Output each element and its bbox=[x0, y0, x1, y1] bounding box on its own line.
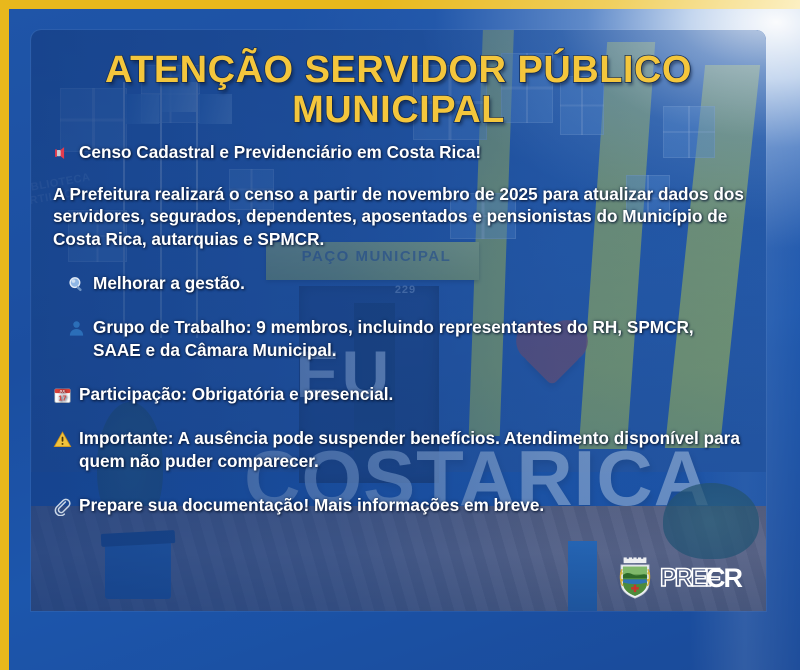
spacer bbox=[53, 250, 744, 272]
spacer bbox=[53, 163, 744, 183]
calendar-day-label: 17 bbox=[58, 393, 66, 402]
bullet-text: Censo Cadastral e Previdenciário em Cost… bbox=[79, 141, 744, 163]
warning-icon bbox=[53, 430, 72, 449]
bullet-participacao: JUL 17 Participação: Obrigatória e prese… bbox=[53, 383, 744, 405]
megaphone-icon bbox=[53, 144, 72, 163]
calendar-icon: JUL 17 bbox=[53, 386, 72, 405]
bullet-text: Grupo de Trabalho: 9 membros, incluindo … bbox=[93, 316, 744, 361]
spacer bbox=[53, 361, 744, 383]
coat-of-arms-icon bbox=[617, 557, 653, 599]
body-content: Censo Cadastral e Previdenciário em Cost… bbox=[53, 141, 744, 517]
bullet-text: Melhorar a gestão. bbox=[93, 272, 744, 294]
content-card: PAÇO MUNICIPAL 229 BIBLIOTECA ARTILHO EU… bbox=[31, 30, 766, 611]
person-icon bbox=[67, 319, 86, 338]
prefeitura-logo[interactable]: PREF CR bbox=[617, 557, 748, 599]
spacer bbox=[53, 405, 744, 427]
spacer bbox=[53, 472, 744, 494]
magnifying-glass-icon bbox=[67, 275, 86, 294]
bullet-text: Importante: A ausência pode suspender be… bbox=[79, 427, 744, 472]
page-title: ATENÇÃO SERVIDOR PÚBLICO MUNICIPAL bbox=[53, 50, 744, 131]
prefcr-wordmark: PREF CR bbox=[660, 563, 748, 593]
poster-root: PAÇO MUNICIPAL 229 BIBLIOTECA ARTILHO EU… bbox=[0, 0, 800, 670]
paragraph-text: A Prefeitura realizará o censo a partir … bbox=[53, 183, 744, 250]
bullet-text: Participação: Obrigatória e presencial. bbox=[79, 383, 744, 405]
bullet-importante: Importante: A ausência pode suspender be… bbox=[53, 427, 744, 472]
wordmark-cr-text: CR bbox=[706, 563, 742, 593]
bullet-prepare-documentacao: Prepare sua documentação! Mais informaçõ… bbox=[53, 494, 744, 516]
text-overlay: ATENÇÃO SERVIDOR PÚBLICO MUNICIPAL Censo… bbox=[31, 30, 766, 611]
paperclip-icon bbox=[53, 497, 72, 516]
bullet-grupo-trabalho: Grupo de Trabalho: 9 membros, incluindo … bbox=[53, 316, 744, 361]
bullet-melhorar-gestao: Melhorar a gestão. bbox=[53, 272, 744, 294]
bullet-censo: Censo Cadastral e Previdenciário em Cost… bbox=[53, 141, 744, 163]
paragraph-censo-detalhe: A Prefeitura realizará o censo a partir … bbox=[53, 183, 744, 250]
bullet-text: Prepare sua documentação! Mais informaçõ… bbox=[79, 494, 744, 516]
spacer bbox=[53, 294, 744, 316]
